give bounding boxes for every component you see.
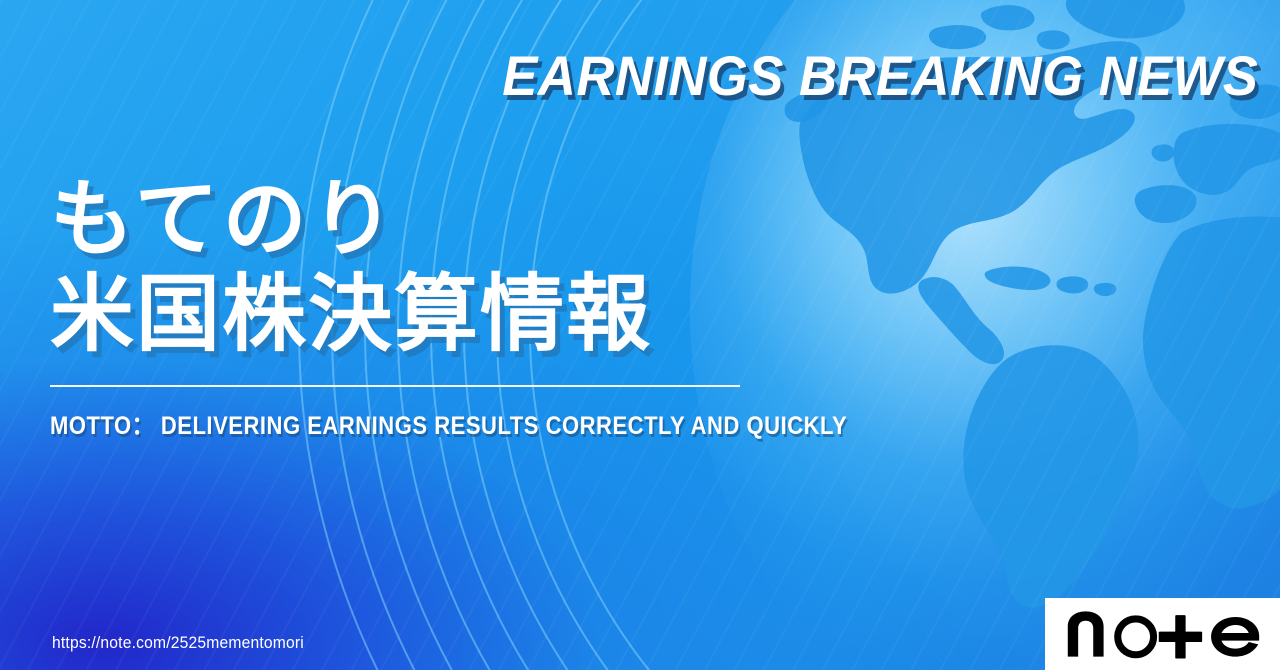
note-logo-icon	[1064, 607, 1262, 661]
page-title-japanese: 米国株決算情報	[50, 271, 810, 358]
profile-url-link[interactable]: https://note.com/2525mementomori	[52, 634, 304, 651]
note-logo-panel[interactable]	[1045, 598, 1280, 670]
copy-block: もてのり 米国株決算情報 MOTTO： DELIVERING EARNINGS …	[50, 176, 810, 440]
brand-name-japanese: もてのり	[50, 176, 810, 263]
earnings-news-banner: EARNINGS BREAKING NEWS もてのり 米国株決算情報 MOTT…	[0, 0, 1280, 670]
headline-earnings-breaking-news: EARNINGS BREAKING NEWS	[502, 48, 1258, 104]
horizontal-divider	[50, 385, 740, 387]
motto-tagline: MOTTO： DELIVERING EARNINGS RESULTS CORRE…	[50, 413, 719, 441]
